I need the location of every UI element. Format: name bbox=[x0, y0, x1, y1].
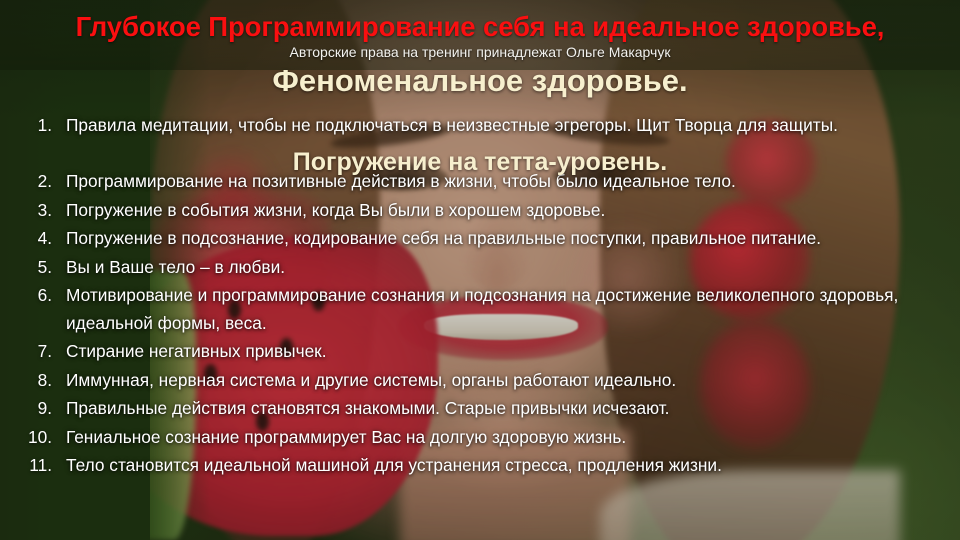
list-item-text: Правила медитации, чтобы не подключаться… bbox=[66, 115, 838, 135]
list-item: 7. Стирание негативных привычек. bbox=[14, 338, 950, 366]
slide-content: Глубокое Программирование себя на идеаль… bbox=[0, 0, 960, 540]
list-item-number: 3. bbox=[14, 197, 52, 225]
list-item-number: 7. bbox=[14, 338, 52, 366]
list-item: 10. Гениальное сознание программирует Ва… bbox=[14, 424, 950, 452]
list-item-number: 11. bbox=[14, 452, 52, 480]
list-item: 6. Мотивирование и программирование созн… bbox=[14, 282, 950, 337]
list-item-text: Погружение в подсознание, кодирование се… bbox=[66, 228, 821, 248]
list-item-text: Тело становится идеальной машиной для ус… bbox=[66, 455, 722, 475]
list-item-number: 1. bbox=[14, 112, 52, 140]
list-item: 4. Погружение в подсознание, кодирование… bbox=[14, 225, 950, 253]
list-item-text: Стирание негативных привычек. bbox=[66, 341, 327, 361]
list-item-number: 6. bbox=[14, 282, 52, 310]
list-item: 8. Иммунная, нервная система и другие си… bbox=[14, 367, 950, 395]
list-item: 3. Погружение в события жизни, когда Вы … bbox=[14, 197, 950, 225]
list-item-number: 8. bbox=[14, 367, 52, 395]
list-item-text: Вы и Ваше тело – в любви. bbox=[66, 257, 285, 277]
list-item-number: 4. bbox=[14, 225, 52, 253]
slide-title-main: Глубокое Программирование себя на идеаль… bbox=[0, 11, 960, 43]
list-item-number: 9. bbox=[14, 395, 52, 423]
list-item: 9. Правильные действия становятся знаком… bbox=[14, 395, 950, 423]
list-item: 11. Тело становится идеальной машиной дл… bbox=[14, 452, 950, 480]
presentation-slide: Глубокое Программирование себя на идеаль… bbox=[0, 0, 960, 540]
list-item-number: 5. bbox=[14, 254, 52, 282]
list-item: 5. Вы и Ваше тело – в любви. bbox=[14, 254, 950, 282]
list-item-text: Погружение в события жизни, когда Вы был… bbox=[66, 200, 605, 220]
list-item-text: Гениальное сознание программирует Вас на… bbox=[66, 427, 626, 447]
list-item-text: Мотивирование и программирование сознани… bbox=[66, 285, 898, 333]
copyright-notice: Авторские права на тренинг принадлежат О… bbox=[0, 44, 960, 60]
list-item-text: Правильные действия становятся знакомыми… bbox=[66, 398, 669, 418]
theta-level-headline: Погружение на тетта-уровень. bbox=[0, 148, 960, 177]
slide-title-sub: Феноменальное здоровье. bbox=[0, 63, 960, 99]
list-item-text: Иммунная, нервная система и другие систе… bbox=[66, 370, 676, 390]
list-item-number: 10. bbox=[14, 424, 52, 452]
